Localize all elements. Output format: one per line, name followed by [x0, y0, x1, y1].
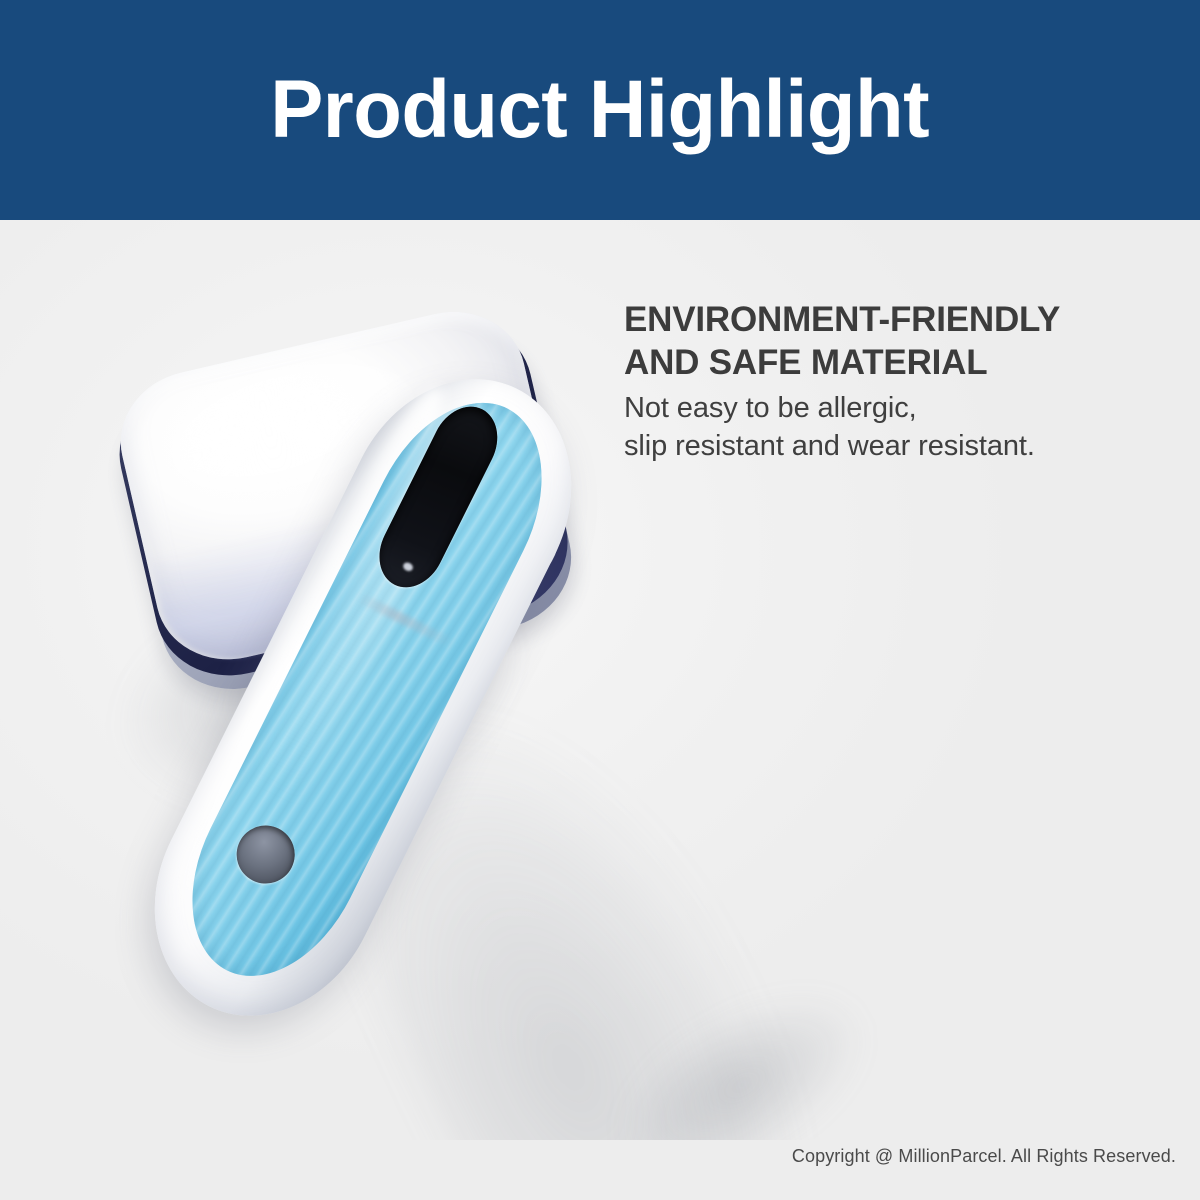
feature-copy-block: ENVIRONMENT-FRIENDLY AND SAFE MATERIAL N… [624, 298, 1164, 465]
feature-heading: ENVIRONMENT-FRIENDLY AND SAFE MATERIAL [624, 298, 1164, 385]
feature-heading-line-2: AND SAFE MATERIAL [624, 341, 1164, 384]
copyright-text: Copyright @ MillionParcel. All Rights Re… [792, 1146, 1176, 1167]
product-highlight-page: Product Highlight [0, 0, 1200, 1200]
header-banner: Product Highlight [0, 0, 1200, 220]
feature-body: Not easy to be allergic, slip resistant … [624, 389, 1164, 466]
page-title: Product Highlight [271, 69, 930, 151]
feature-body-line-2: slip resistant and wear resistant. [624, 427, 1164, 465]
feature-heading-line-1: ENVIRONMENT-FRIENDLY [624, 298, 1164, 341]
footer: Copyright @ MillionParcel. All Rights Re… [0, 1146, 1200, 1200]
feature-body-line-1: Not easy to be allergic, [624, 389, 1164, 427]
slot-highlight [402, 561, 415, 573]
